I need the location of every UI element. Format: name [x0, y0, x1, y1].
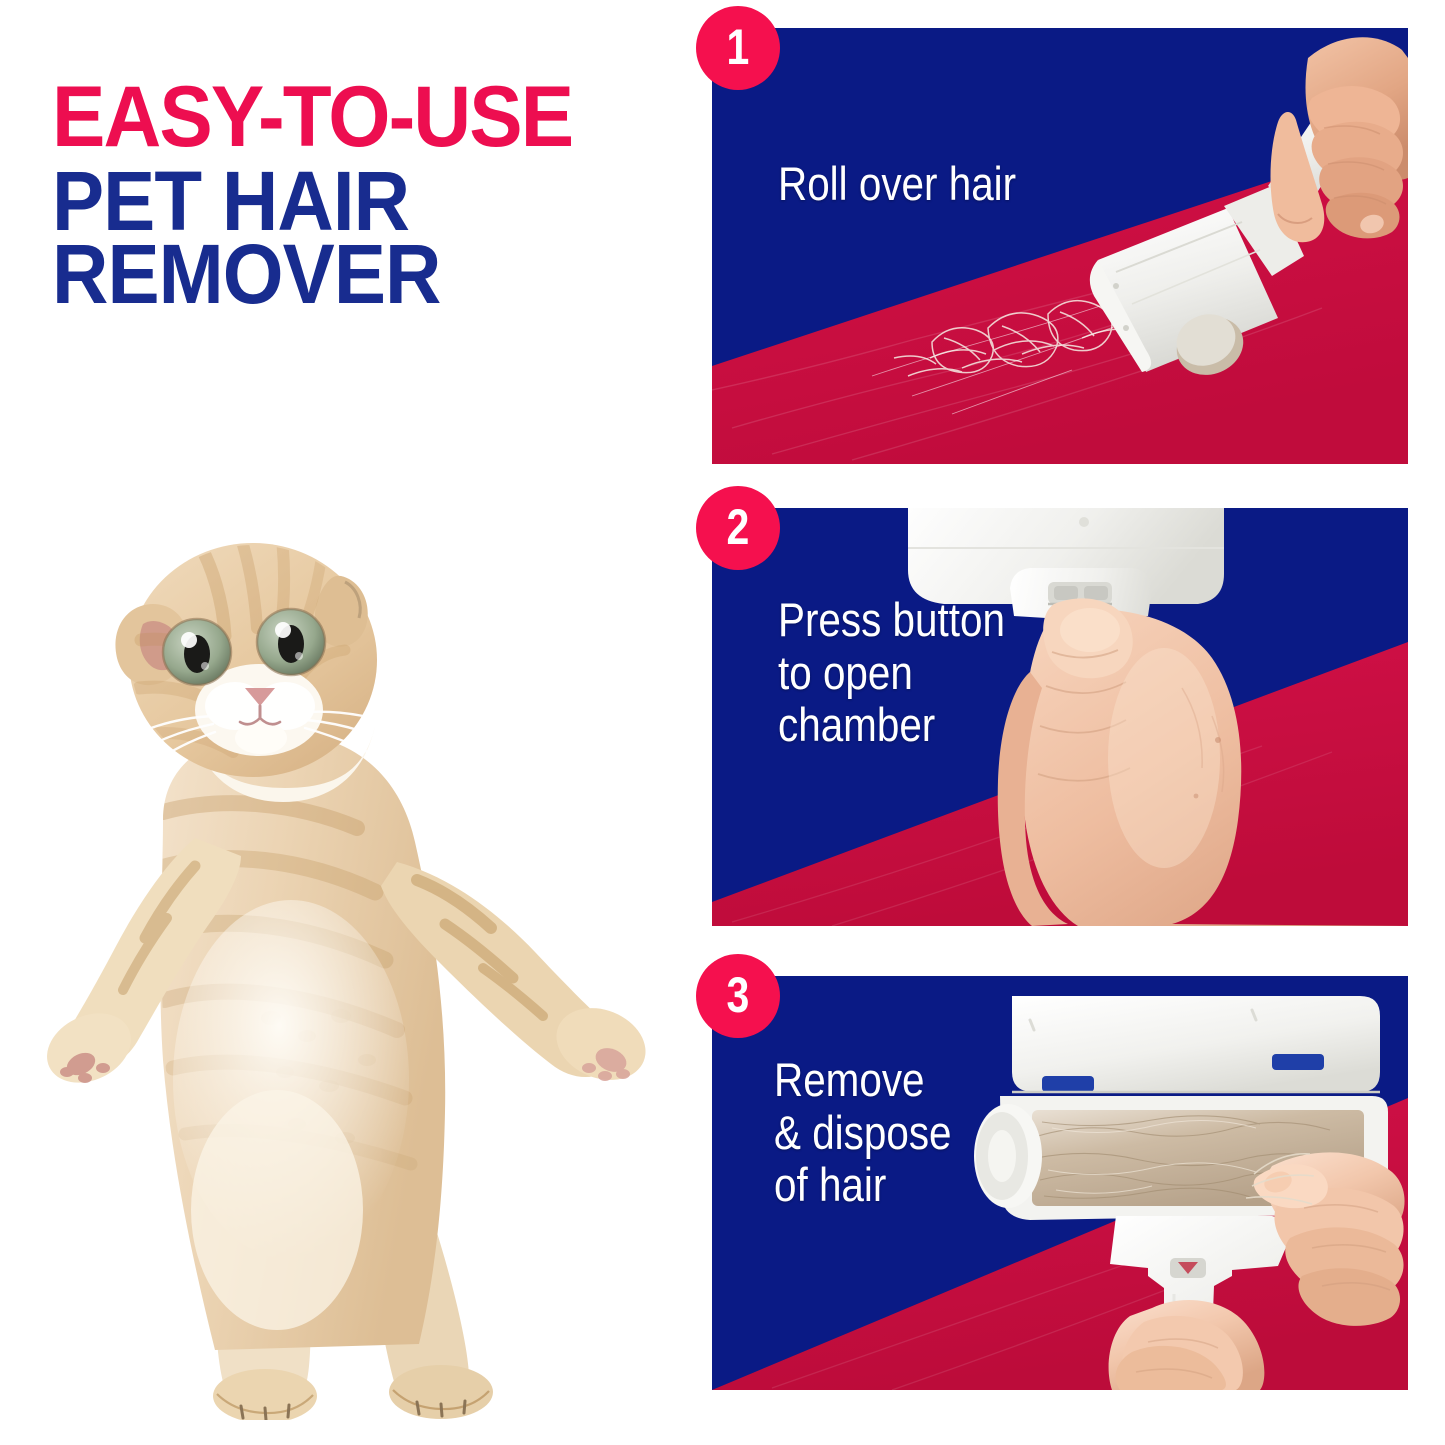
- left-column: EASY-TO-USE PET HAIR REMOVER: [0, 0, 690, 1445]
- step-caption-1: Roll over hair: [778, 158, 1016, 211]
- steps-column: 1 Roll over hair: [712, 0, 1412, 1445]
- infographic-canvas: EASY-TO-USE PET HAIR REMOVER: [0, 0, 1445, 1445]
- step-number-2: 2: [727, 502, 750, 552]
- step-1-image: [712, 28, 1408, 464]
- cat-product-photo: [45, 520, 665, 1420]
- step-panel-3: 3 Remove & dispose of hair: [712, 976, 1408, 1390]
- page-title: EASY-TO-USE PET HAIR REMOVER: [52, 78, 672, 314]
- step-caption-3: Remove & dispose of hair: [774, 1054, 952, 1212]
- step-panel-2: 2 Press button to open chamber: [712, 508, 1408, 926]
- headline-line-remover: REMOVER: [52, 236, 629, 313]
- step-number-3: 3: [727, 970, 750, 1020]
- step-number-badge-1: 1: [696, 6, 780, 90]
- step-number-badge-2: 2: [696, 486, 780, 570]
- headline-line-easy-to-use: EASY-TO-USE: [52, 78, 629, 157]
- step-1-scene: [712, 28, 1408, 464]
- step-panel-1: 1 Roll over hair: [712, 28, 1408, 464]
- step-number-badge-3: 3: [696, 954, 780, 1038]
- step-number-1: 1: [727, 22, 750, 72]
- step-caption-2: Press button to open chamber: [778, 594, 1005, 752]
- cat-illustration: [45, 520, 665, 1420]
